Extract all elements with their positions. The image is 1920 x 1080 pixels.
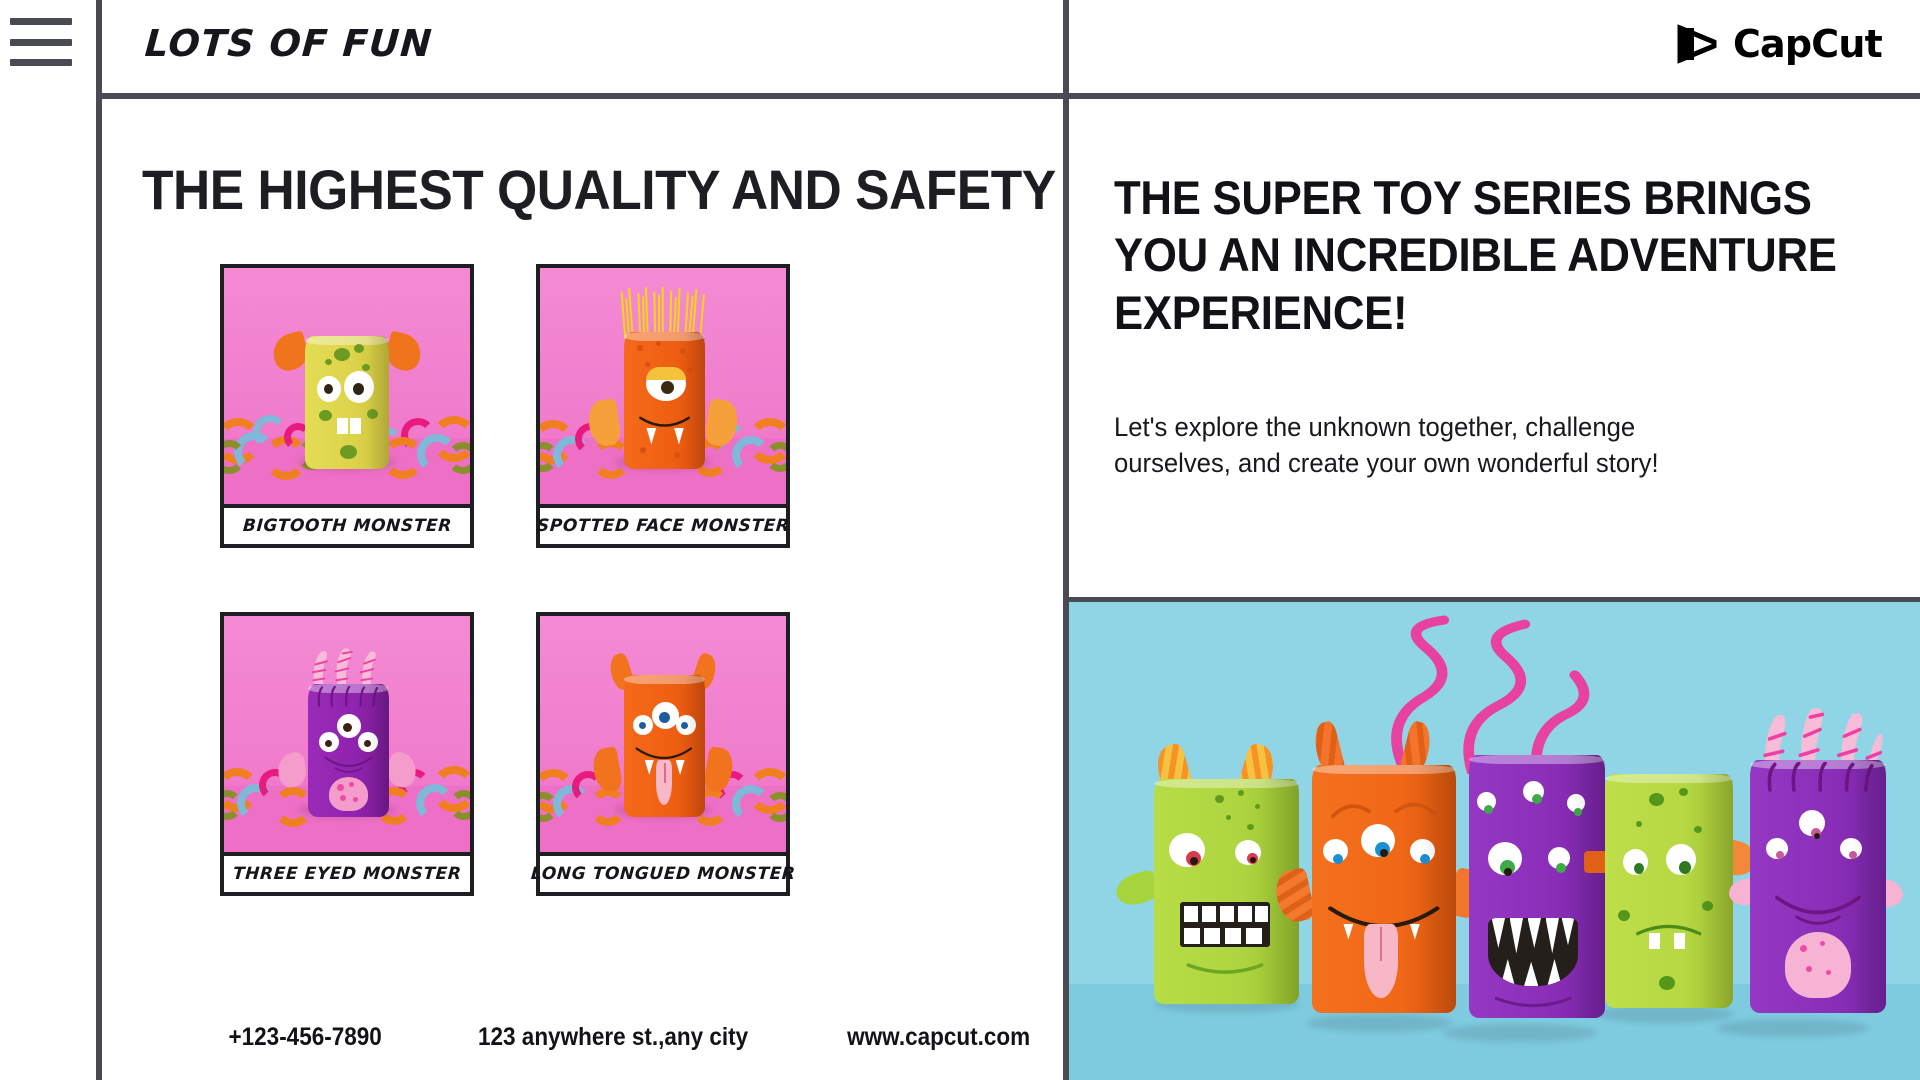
tongue [1364, 924, 1399, 999]
pink-curly-streamers [1358, 612, 1596, 775]
footer-website[interactable]: www.capcut.com [847, 1023, 1030, 1052]
product-card[interactable]: LONG TONGUED MONSTER [536, 612, 790, 896]
orange-long-tongue-monster-photo [536, 612, 790, 856]
product-card-label: THREE EYED MONSTER [220, 856, 474, 896]
capcut-logo-icon [1675, 24, 1719, 64]
product-card[interactable]: THREE EYED MONSTER [220, 612, 474, 896]
yellow-green-spotted-monster-photo [220, 264, 474, 508]
purple-antennae-monster [1750, 760, 1886, 1013]
right-panel: THE SUPER TOY SERIES BRINGS YOU AN INCRE… [1069, 99, 1920, 1080]
product-card-label: LONG TONGUED MONSTER [536, 856, 790, 896]
five-paper-roll-monsters-on-blue-background-photo [1069, 597, 1920, 1080]
teeth-mouth [1180, 902, 1270, 947]
orange-monster [1312, 765, 1457, 1014]
footer-phone[interactable]: +123-456-7890 [229, 1023, 382, 1052]
hamburger-bar [10, 18, 72, 25]
footer-contact-bar: +123-456-7890 123 anywhere st.,any city … [220, 1023, 1040, 1052]
right-panel-heading: THE SUPER TOY SERIES BRINGS YOU AN INCRE… [1114, 169, 1849, 341]
fang-mouth [1488, 918, 1578, 986]
product-card-grid: BIGTOOTH MONSTER [220, 264, 920, 896]
purple-many-eyed-monster [1469, 755, 1605, 1018]
product-card[interactable]: SPOTTED FACE MONSTER [536, 264, 790, 548]
hamburger-bar [10, 59, 72, 66]
product-card[interactable]: BIGTOOTH MONSTER [220, 264, 474, 548]
green-spotted-monster [1605, 774, 1733, 1008]
left-panel: THE HIGHEST QUALITY AND SAFETY [102, 99, 1063, 1080]
left-panel-heading: THE HIGHEST QUALITY AND SAFETY [142, 157, 1056, 222]
product-card-label: SPOTTED FACE MONSTER [536, 508, 790, 548]
footer-address: 123 anywhere st.,any city [478, 1023, 748, 1052]
poster-page: LOTS OF FUN CapCut THE HIGHEST QUALITY A… [0, 0, 1920, 1080]
orange-cyclops-monster-photo [536, 264, 790, 508]
right-panel-body: Let's explore the unknown together, chal… [1114, 409, 1722, 482]
hamburger-bar [10, 39, 72, 46]
yellow-hair [616, 287, 709, 339]
product-card-label: BIGTOOTH MONSTER [220, 508, 474, 548]
purple-three-eyed-monster-photo [220, 612, 474, 856]
capcut-wordmark: CapCut [1733, 22, 1882, 66]
brand-title: LOTS OF FUN [143, 22, 434, 65]
hamburger-menu-icon[interactable] [10, 18, 72, 66]
capcut-logo[interactable]: CapCut [1675, 22, 1882, 66]
